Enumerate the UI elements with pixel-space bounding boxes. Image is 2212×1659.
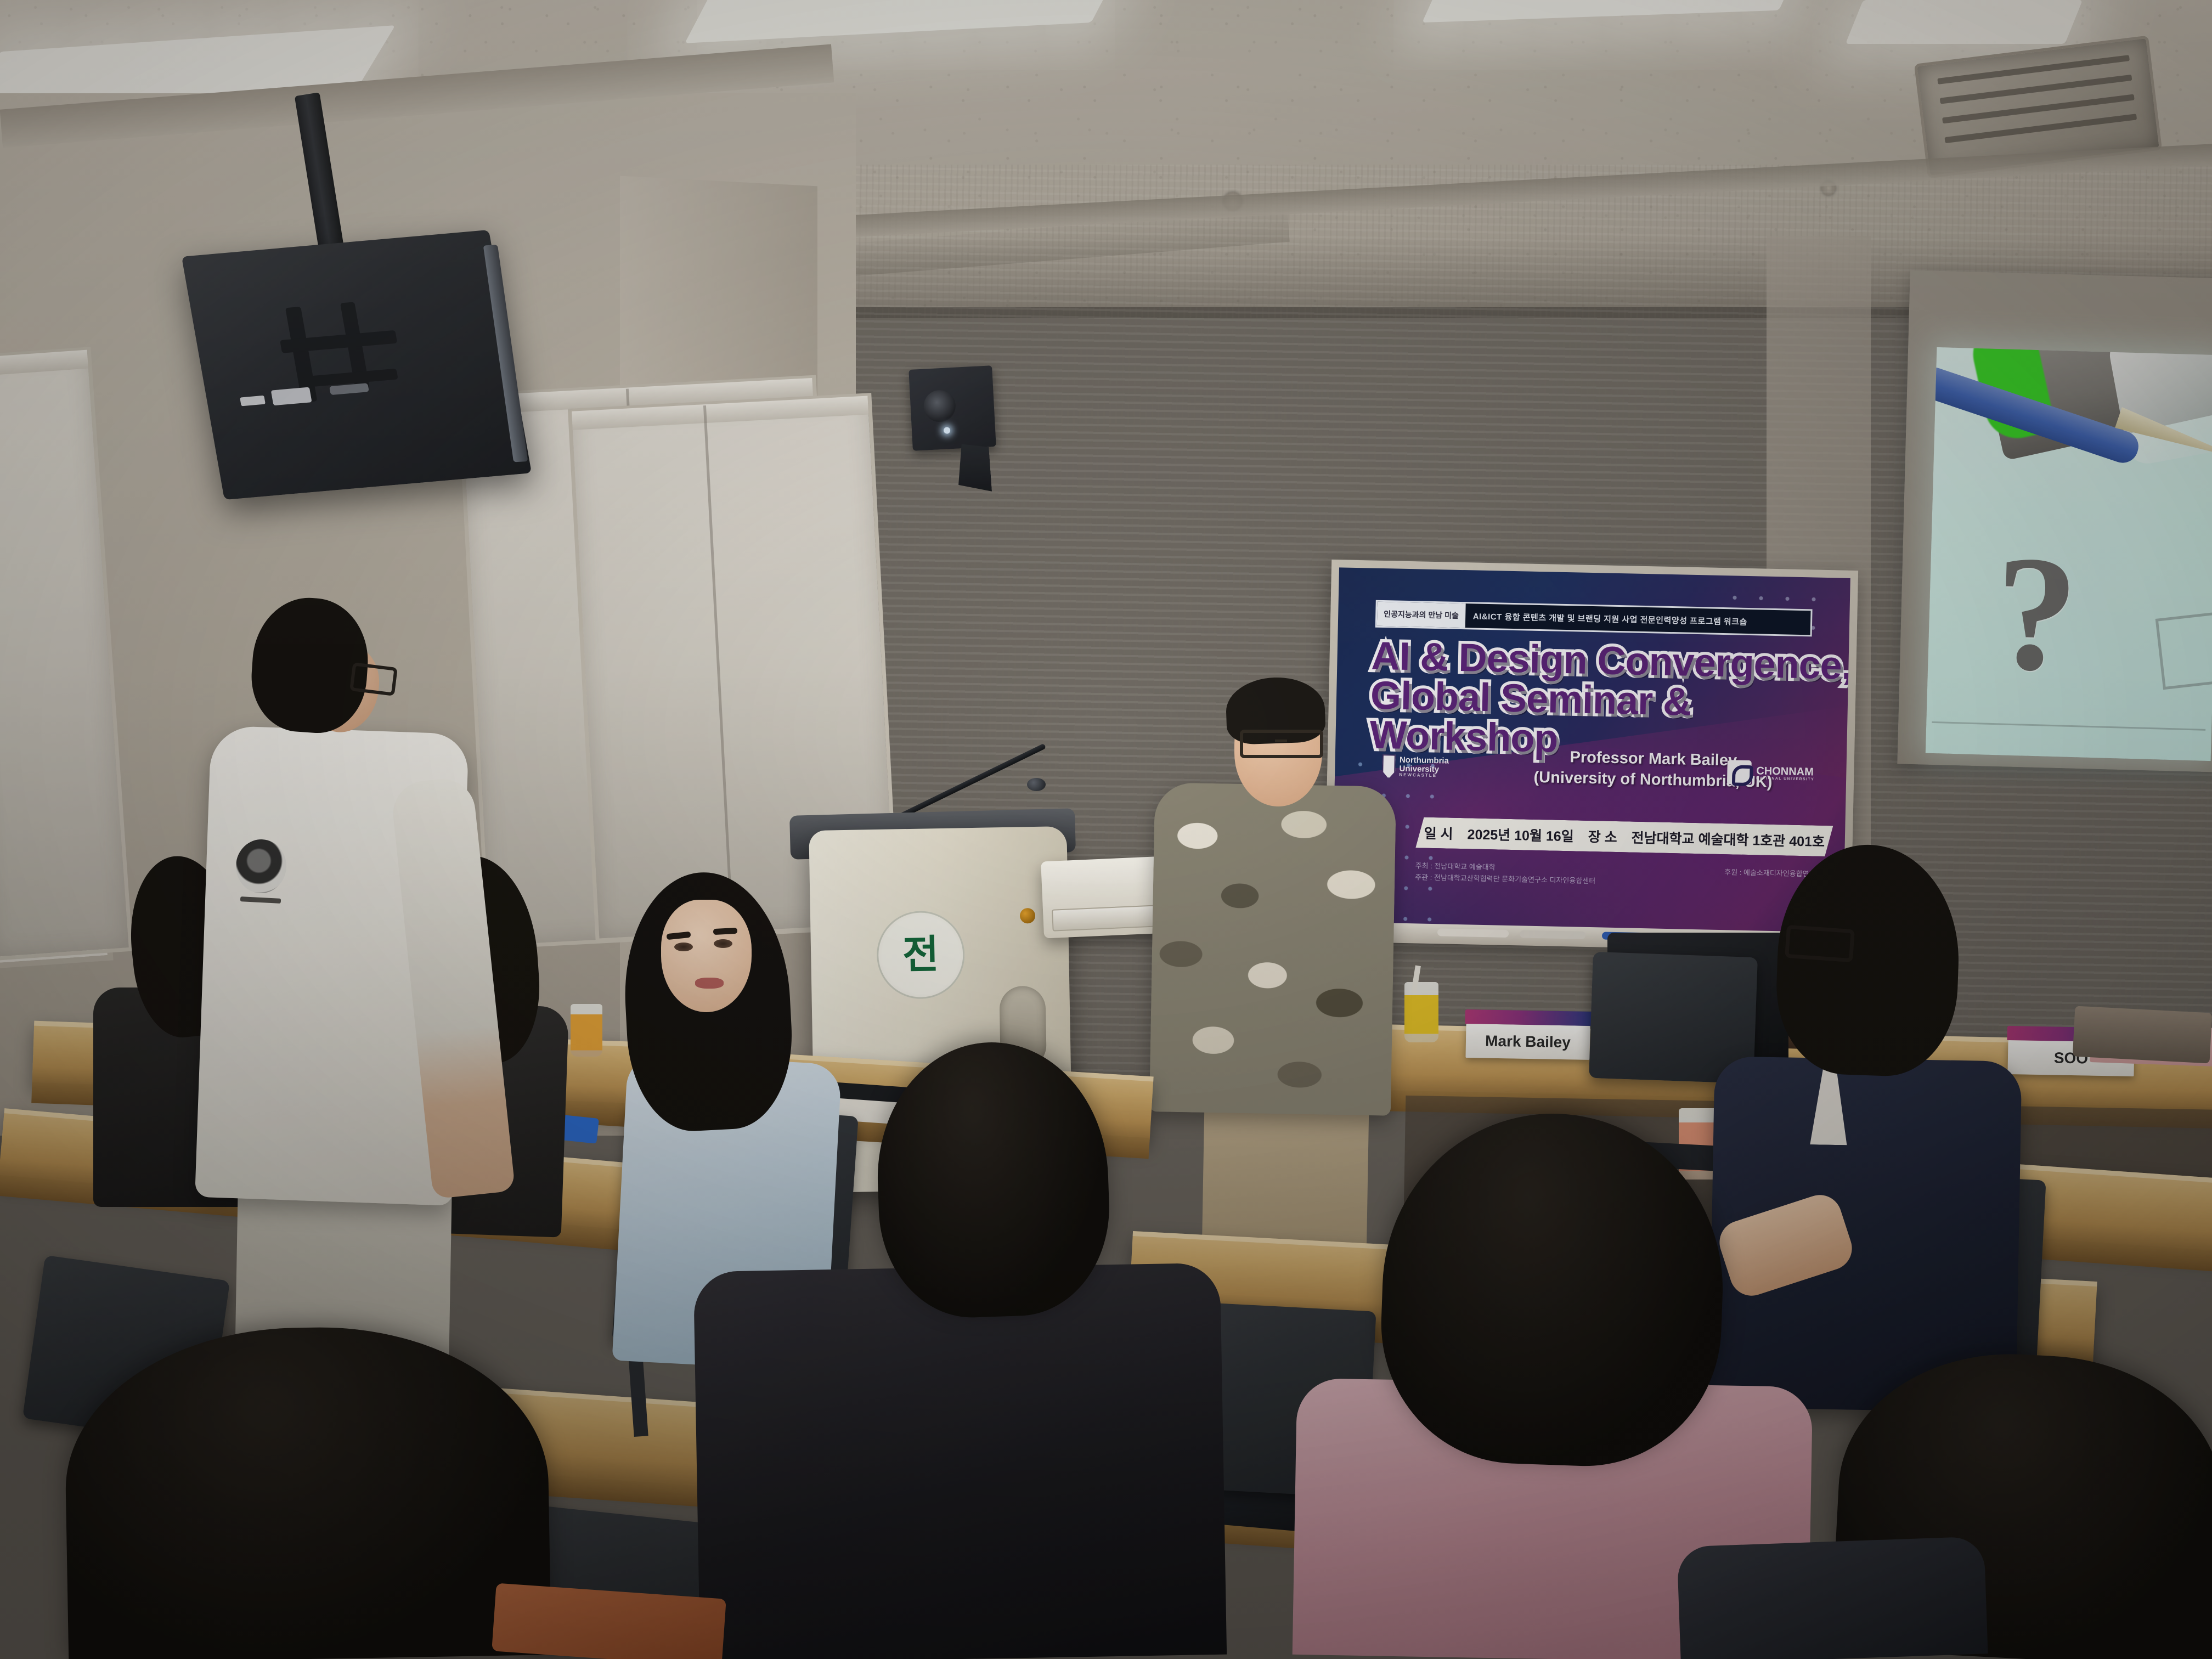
iced-drink-cup[interactable] — [571, 1004, 602, 1057]
attendee-eyebrow — [713, 928, 738, 935]
ceiling-mounted-display — [182, 230, 532, 500]
logo-chonnam-sub: NATIONAL UNIVERSITY — [1756, 776, 1814, 781]
desk-clutter — [2073, 1006, 2212, 1064]
attendee-face — [661, 900, 752, 1012]
banner-place-value: 전남대학교 예술대학 1호관 401호 — [1631, 827, 1825, 851]
photo-scene: ? 인공지능과의 만남 미술 AI&ICT 융합 콘텐츠 개발 및 브랜딩 지원… — [0, 0, 2212, 1659]
glasses-icon — [349, 662, 398, 696]
recessed-ceiling-light — [1846, 0, 2083, 44]
yellow-drink-cup[interactable] — [1404, 982, 1438, 1042]
wall-speaker — [909, 365, 996, 451]
chonnam-emblem-icon: 전 — [876, 910, 966, 1000]
event-banner: 인공지능과의 만남 미술 AI&ICT 융합 콘텐츠 개발 및 브랜딩 지원 사… — [1324, 560, 1858, 949]
marker-pen[interactable] — [1437, 928, 1509, 938]
podium-emblem-letter: 전 — [902, 935, 939, 975]
podium-control-knob[interactable] — [1020, 908, 1035, 923]
nameplate-mark-bailey: Mark Bailey — [1465, 1024, 1590, 1060]
foreground-attendee-head — [63, 1323, 551, 1659]
nameplate-name: Mark Bailey — [1485, 1032, 1571, 1052]
projected-slide: ? — [1926, 347, 2212, 761]
banner-title: AI & Design Convergence, Global Seminar … — [1369, 636, 1850, 765]
shield-icon — [1382, 754, 1396, 778]
banner-place-label: 장 소 — [1588, 826, 1617, 847]
microphone-head — [1027, 778, 1046, 791]
presenter-torso — [1149, 782, 1396, 1116]
foreground-attendee-shoulder — [1677, 1536, 1988, 1659]
logo-northumbria-city: NEWCASTLE — [1399, 773, 1464, 779]
banner-strip-dark-label: AI&ICT 융합 콘텐츠 개발 및 브랜딩 지원 사업 전문인력양성 프로그램… — [1465, 610, 1755, 628]
banner-date-value: 2025년 10월 16일 — [1467, 823, 1574, 845]
northumbria-university-logo: Northumbria University NEWCASTLE — [1382, 749, 1465, 785]
marker-pen[interactable] — [1520, 930, 1585, 939]
glasses-icon — [1785, 925, 1855, 963]
glasses-icon — [1240, 730, 1323, 758]
banner-strip-white-label: 인공지능과의 만남 미술 — [1377, 602, 1465, 628]
chonnam-university-logo: CHONNAM NATIONAL UNIVERSITY — [1727, 760, 1815, 786]
chonnam-emblem-icon — [1727, 760, 1752, 785]
slide-outline-box — [2155, 607, 2212, 690]
slide-question-mark: ? — [1993, 530, 2080, 697]
foreground-attendee-body — [693, 1263, 1227, 1659]
banner-date-label: 일 시 — [1424, 823, 1453, 843]
